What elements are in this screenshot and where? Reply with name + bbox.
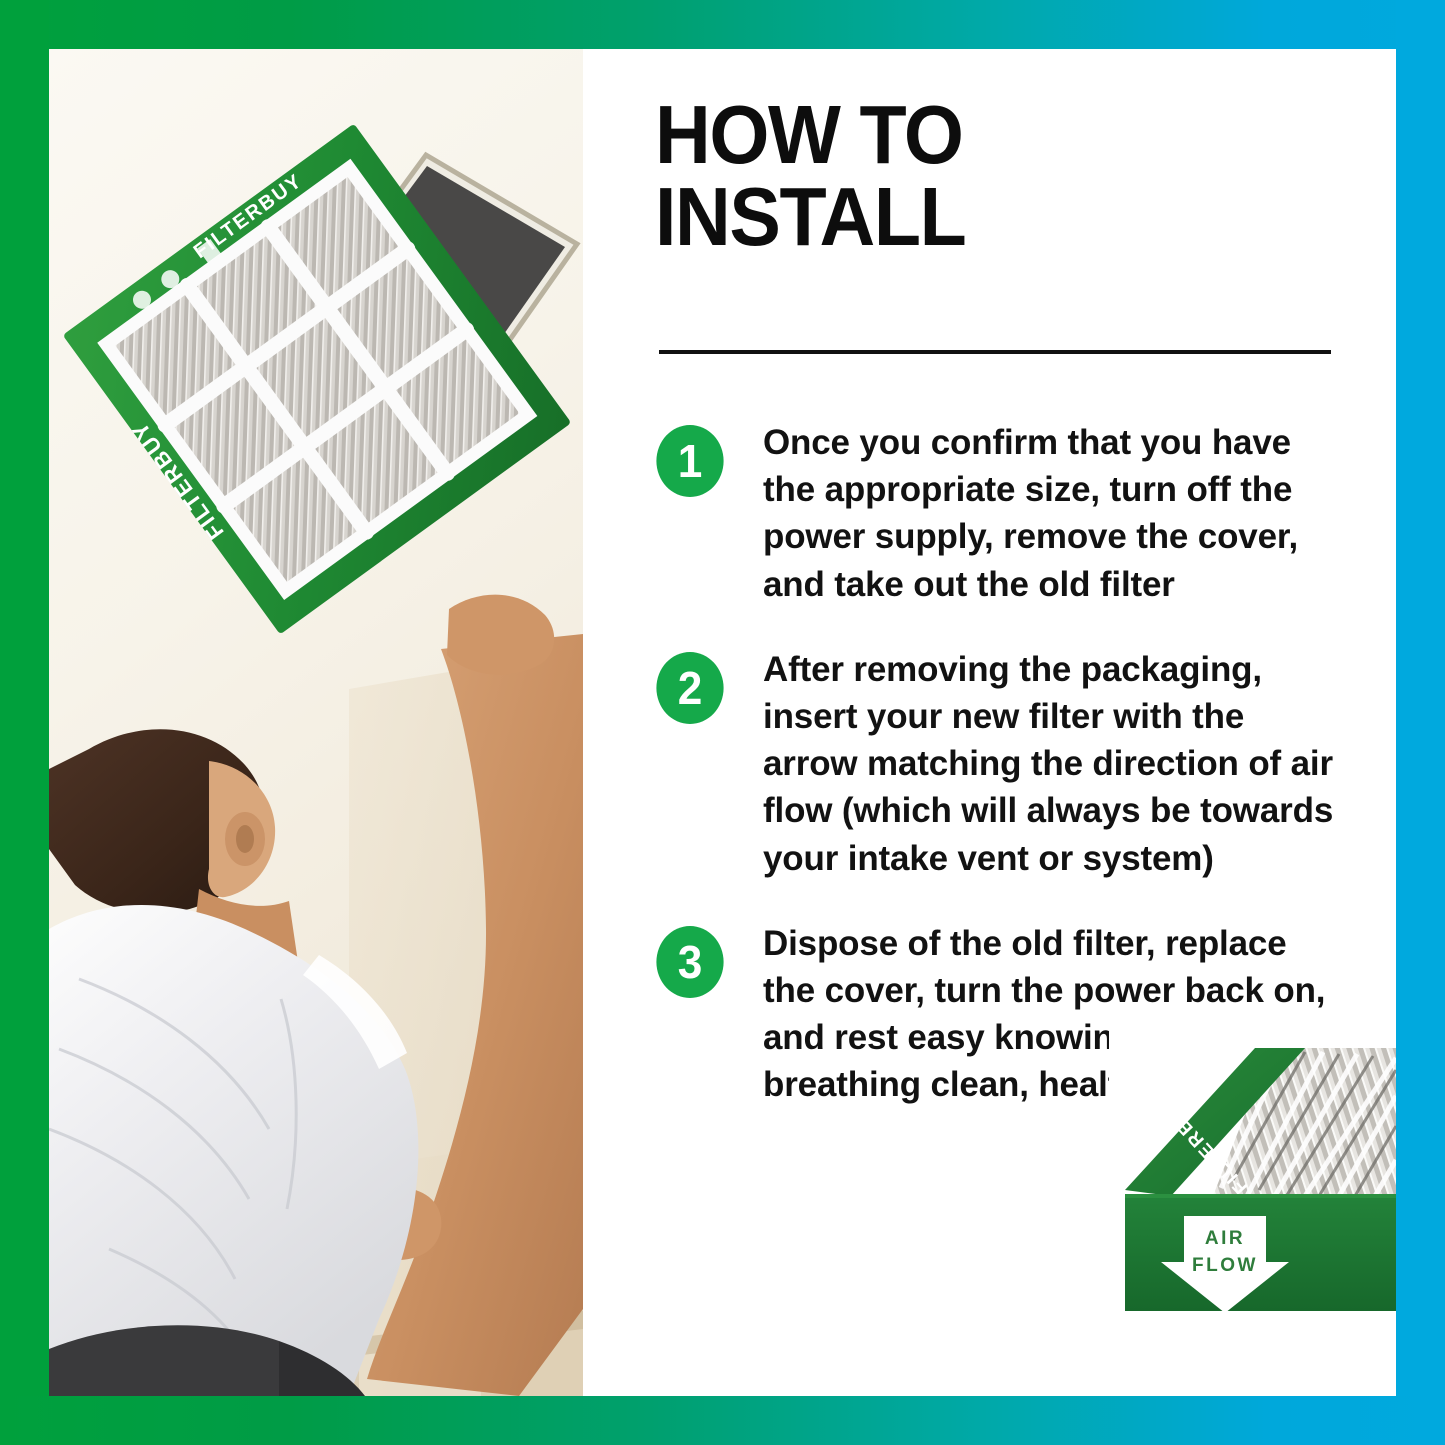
page-title-line-2: INSTALL — [655, 176, 1306, 258]
how-to-install-infographic: FILTERBUY FILTERBUY — [0, 0, 1445, 1445]
svg-text:AIR: AIR — [1205, 1228, 1245, 1249]
list-item: 1 Once you confirm that you have the app… — [655, 419, 1355, 608]
installation-photo: FILTERBUY FILTERBUY — [49, 49, 583, 1396]
svg-text:FLOW: FLOW — [1192, 1255, 1258, 1276]
frame-border-right — [1396, 0, 1445, 1445]
frame-border-left — [0, 0, 49, 1445]
frame-border-bottom — [0, 1396, 1445, 1445]
content-canvas: FILTERBUY FILTERBUY — [49, 49, 1396, 1396]
frame-border-top — [0, 0, 1445, 49]
page-title: HOW TO INSTALL — [655, 94, 1306, 258]
step-text: Once you confirm that you have the appro… — [763, 419, 1346, 608]
step-number-badge: 3 — [656, 926, 723, 998]
product-filter-image: FILTERBUY AIR FLOW — [1109, 1030, 1396, 1375]
step-number-badge: 1 — [656, 425, 723, 497]
page-title-line-1: HOW TO — [655, 94, 1306, 176]
list-item: 2 After removing the packaging, insert y… — [655, 646, 1355, 882]
title-divider — [659, 350, 1331, 354]
step-text: After removing the packaging, insert you… — [763, 646, 1346, 882]
step-number-badge: 2 — [656, 652, 723, 724]
